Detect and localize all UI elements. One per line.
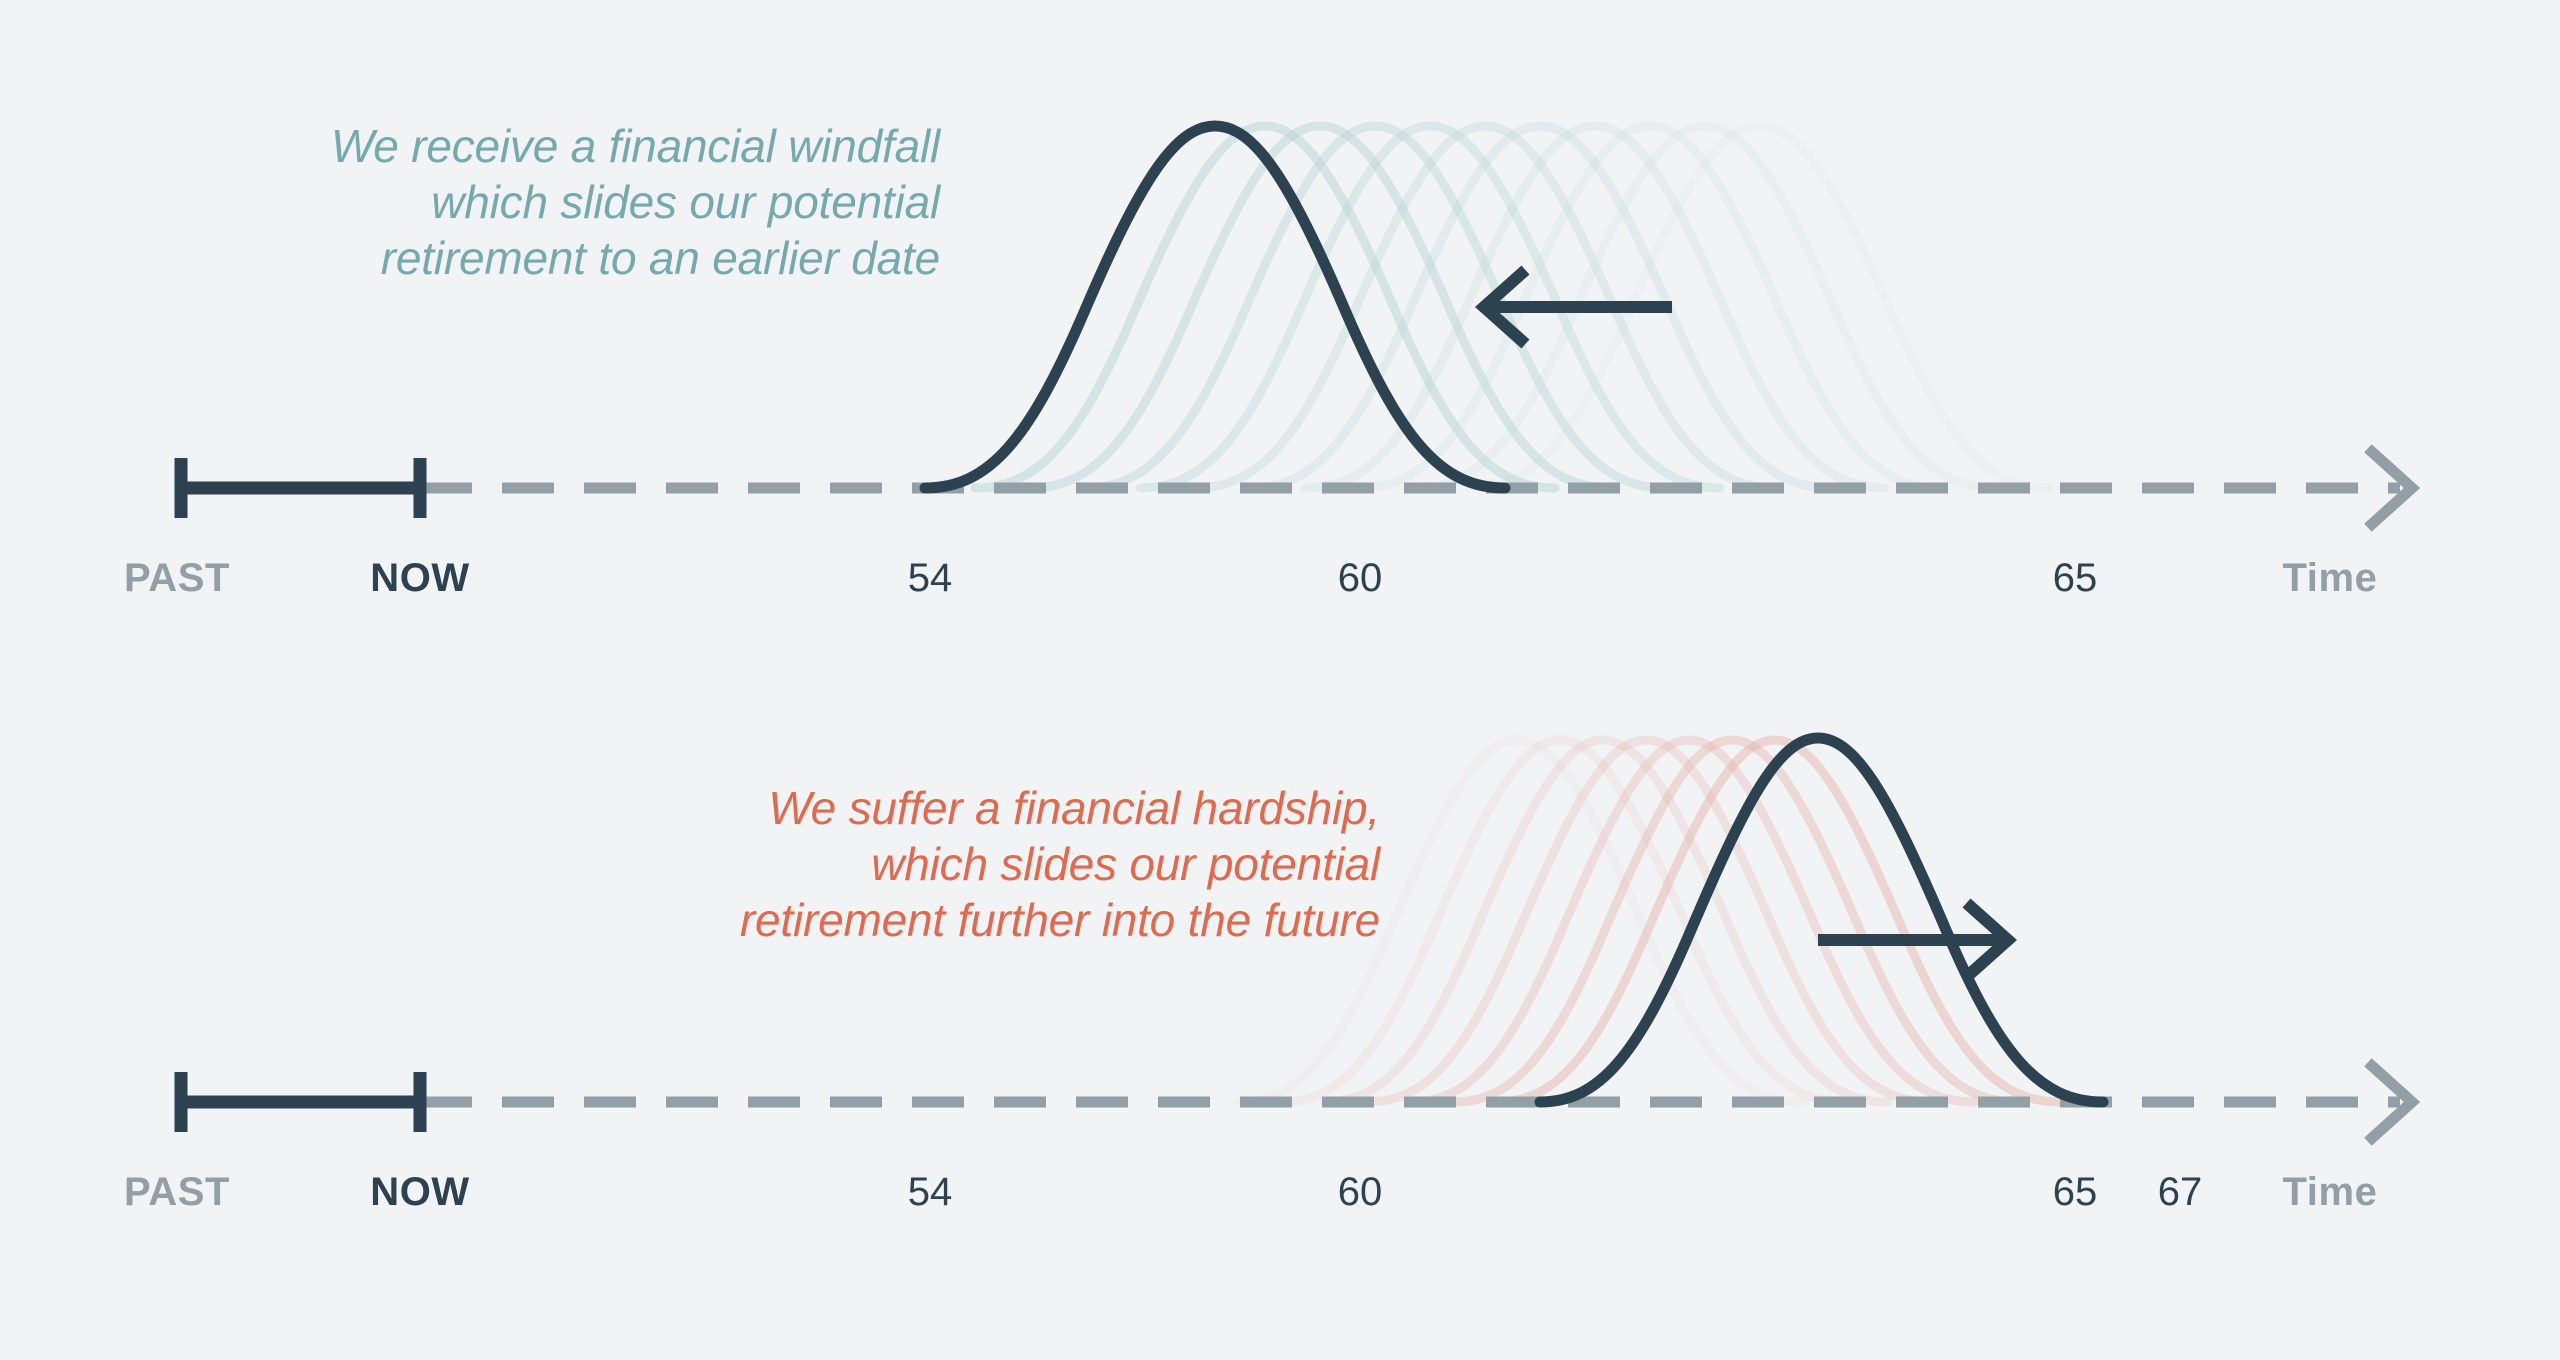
diagram-canvas: We receive a financial windfall which sl… xyxy=(0,0,2560,1360)
hardship-tick-label-67: 67 xyxy=(2158,1170,2203,1215)
hardship-annotation-text: We suffer a financial hardship, which sl… xyxy=(460,780,1380,948)
windfall-past-label: PAST xyxy=(124,556,230,601)
windfall-annotation-text: We receive a financial windfall which sl… xyxy=(120,118,940,286)
hardship-now-label: NOW xyxy=(370,1170,470,1215)
hardship-tick-label-60: 60 xyxy=(1338,1170,1383,1215)
windfall-now-label: NOW xyxy=(370,556,470,601)
windfall-time-label: Time xyxy=(2282,556,2377,601)
hardship-tick-label-65: 65 xyxy=(2053,1170,2098,1215)
hardship-time-label: Time xyxy=(2282,1170,2377,1215)
hardship-tick-label-54: 54 xyxy=(908,1170,953,1215)
hardship-past-label: PAST xyxy=(124,1170,230,1215)
windfall-tick-label-60: 60 xyxy=(1338,556,1383,601)
windfall-tick-label-65: 65 xyxy=(2053,556,2098,601)
windfall-tick-label-54: 54 xyxy=(908,556,953,601)
